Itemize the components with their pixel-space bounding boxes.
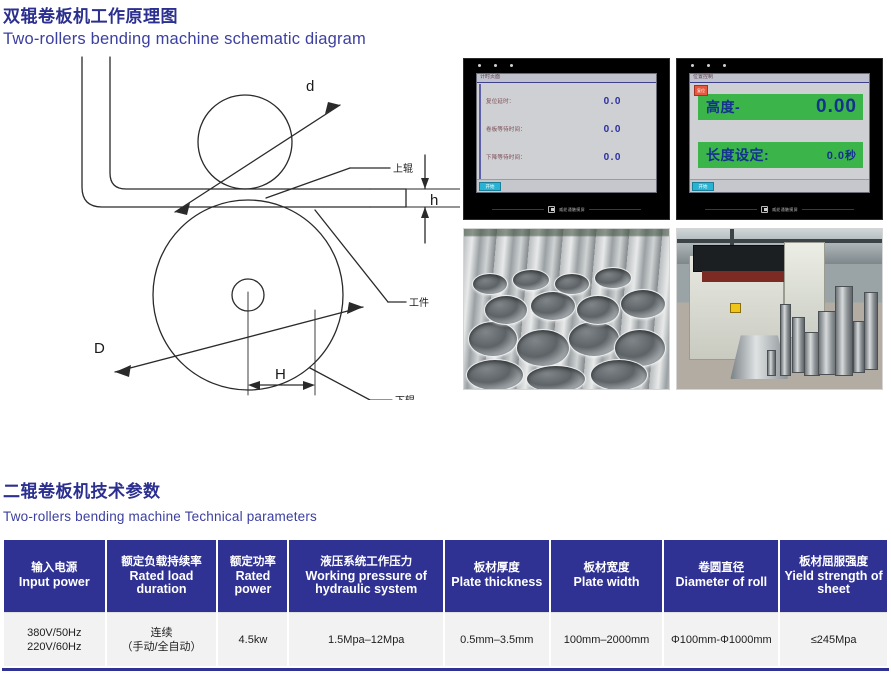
rolled-cylinders-photo (463, 228, 670, 390)
header-cn: 液压系统工作压力 (291, 556, 440, 569)
header-cn: 板材宽度 (553, 562, 661, 575)
hmi-taskbar: 开始 (477, 179, 656, 192)
header-en: Diameter of roll (666, 576, 776, 590)
header-cn: 卷圆直径 (666, 562, 776, 575)
warning-label-icon (730, 303, 741, 313)
hmi-start-button[interactable]: 开始 (479, 182, 501, 191)
table-header-cell-rated-power: 额定功率 Rated power (218, 540, 287, 612)
hmi-body: 复位延时： 0.0 卷板等待时间： 0.0 下降等待时间： 0.0 (477, 84, 656, 179)
led-indicator (494, 64, 497, 67)
hmi-screen[interactable]: 计时页面 复位延时： 0.0 卷板等待时间： 0.0 下降等 (476, 73, 657, 193)
tube-sample (835, 286, 853, 376)
table-cell-diameter-of-roll: Φ100mm-Φ1000mm (664, 612, 778, 666)
header-en: Yield strength of sheet (782, 570, 885, 597)
cell-line: 4.5kw (220, 633, 285, 647)
parameters-title-en: Two-rollers bending machine Technical pa… (3, 507, 317, 527)
hmi-brand-logo: 威纶通触摸屏 (677, 206, 882, 213)
page-title-en: Two-rollers bending machine schematic di… (3, 28, 366, 50)
hmi-left-accent-bar (479, 84, 481, 179)
schematic-label-d: d (306, 78, 314, 95)
cylinder (466, 359, 524, 390)
hmi-window-title: 计时页面 (480, 73, 500, 80)
tube-sample (780, 304, 791, 376)
cylinder (576, 295, 620, 325)
hmi-param-label: 复位延时： (486, 97, 515, 105)
cell-line: （手动/全自动） (109, 640, 215, 654)
hmi-panel-timers: 计时页面 复位延时： 0.0 卷板等待时间： 0.0 下降等 (463, 58, 670, 220)
hmi-param-label: 下降等待时间： (486, 153, 526, 161)
hmi-param-value: 0.0 (604, 152, 622, 163)
table-header-cell-working-pressure: 液压系统工作压力 Working pressure of hydraulic s… (289, 540, 442, 612)
hmi-start-button[interactable]: 开始 (692, 182, 714, 191)
hmi-window-title: 位置控制 (693, 73, 713, 80)
hmi-length-label: 长度设定: (706, 145, 769, 165)
cylinder (594, 267, 632, 289)
cylinder (468, 321, 518, 357)
schematic-label-workpiece: 工件 (409, 297, 429, 309)
hmi-body: 复位 高度- 0.00 长度设定: 0.0秒 (690, 84, 869, 179)
cylinder (568, 321, 620, 357)
cylinder (620, 289, 666, 319)
hmi-length-field[interactable]: 长度设定: 0.0秒 (698, 142, 863, 168)
cell-line: Φ100mm-Φ1000mm (666, 633, 776, 647)
cylinder (590, 359, 648, 390)
tube-sample (864, 292, 878, 370)
photo-frame (676, 228, 883, 390)
hmi-taskbar: 开始 (690, 179, 869, 192)
hmi-panel-position: 位置控制 复位 高度- 0.00 长度设定: 0.0秒 (676, 58, 883, 220)
schematic-label-lower-roll: 下辊 (395, 394, 415, 400)
machine-roller-head (693, 245, 787, 272)
table-cell-yield-strength: ≤245Mpa (780, 612, 887, 666)
header-cn: 额定功率 (220, 556, 285, 569)
cell-line: 100mm–2000mm (553, 633, 661, 647)
photo-frame (463, 228, 670, 390)
cylinder (526, 365, 586, 390)
brand-line (589, 209, 641, 210)
brand-line (705, 209, 757, 210)
hmi-bezel: 位置控制 复位 高度- 0.00 长度设定: 0.0秒 (676, 58, 883, 220)
table-cell-working-pressure: 1.5Mpa–12Mpa (289, 612, 442, 666)
cylinder (512, 269, 550, 291)
cylinder (530, 291, 576, 321)
technical-parameters-table: 输入电源 Input power 额定负载持续率 Rated load dura… (2, 540, 889, 666)
header-cn: 输入电源 (6, 562, 103, 575)
schematic-label-h: h (430, 192, 438, 209)
header-cn: 额定负载持续率 (109, 556, 215, 569)
table-cell-plate-width: 100mm–2000mm (551, 612, 663, 666)
table-header-row: 输入电源 Input power 额定负载持续率 Rated load dura… (4, 540, 887, 612)
tube-sample (767, 350, 776, 376)
tube-sample (792, 317, 805, 373)
led-indicator (707, 64, 710, 67)
hmi-param-value: 0.0 (604, 96, 622, 107)
table-row: 380V/50Hz 220V/60Hz 连续 （手动/全自动） 4.5kw 1.… (4, 612, 887, 666)
hmi-param-label: 卷板等待时间： (486, 125, 526, 133)
table-bottom-rule (2, 668, 889, 671)
header-cn: 板材屈服强度 (782, 556, 885, 569)
schematic-label-H: H (275, 366, 286, 383)
schematic-diagram: d h D H 上辊 下辊 工件 (70, 55, 460, 400)
brand-line (492, 209, 544, 210)
cell-line: 0.5mm–3.5mm (447, 633, 547, 647)
table-header-cell-input-power: 输入电源 Input power (4, 540, 105, 612)
hmi-param-row[interactable]: 卷板等待时间： 0.0 (486, 122, 648, 136)
product-spec-page: 双辊卷板机工作原理图 Two-rollers bending machine s… (0, 0, 891, 685)
hmi-height-value: 0.00 (816, 96, 857, 118)
schematic-svg: d h D H 上辊 下辊 工件 (70, 55, 460, 400)
table-cell-rated-load-duration: 连续 （手动/全自动） (107, 612, 217, 666)
led-indicator (691, 64, 694, 67)
brand-text: 威纶通触摸屏 (772, 207, 798, 213)
brand-mark-icon (761, 206, 768, 213)
header-en: Plate thickness (447, 576, 547, 590)
hmi-indicator-leds (478, 64, 513, 67)
schematic-label-D: D (94, 340, 105, 357)
brand-mark-icon (548, 206, 555, 213)
hmi-reset-badge[interactable]: 复位 (694, 85, 708, 96)
page-title-cn: 双辊卷板机工作原理图 (3, 6, 366, 28)
header-en: Working pressure of hydraulic system (291, 570, 440, 597)
table-header-cell-rated-load-duration: 额定负载持续率 Rated load duration (107, 540, 217, 612)
led-indicator (478, 64, 481, 67)
hmi-height-field[interactable]: 高度- 0.00 (698, 94, 863, 120)
table-cell-rated-power: 4.5kw (218, 612, 287, 666)
table-cell-input-power: 380V/50Hz 220V/60Hz (4, 612, 105, 666)
hmi-param-row[interactable]: 复位延时： 0.0 (486, 94, 648, 108)
hmi-indicator-leds (691, 64, 726, 67)
schematic-label-upper-roll: 上辊 (393, 162, 413, 175)
hmi-bezel: 计时页面 复位延时： 0.0 卷板等待时间： 0.0 下降等 (463, 58, 670, 220)
cell-line: 连续 (109, 626, 215, 640)
cell-line: 1.5Mpa–12Mpa (291, 633, 440, 647)
header-en: Input power (6, 576, 103, 590)
header-en: Rated power (220, 570, 285, 597)
roof-beam (677, 239, 882, 243)
hmi-window-titlebar: 计时页面 (477, 74, 656, 83)
brand-text: 威纶通触摸屏 (559, 207, 585, 213)
bending-machine-and-samples-photo (676, 228, 883, 390)
hmi-length-value: 0.0秒 (827, 147, 857, 163)
brand-line (802, 209, 854, 210)
hmi-height-label: 高度- (706, 97, 740, 117)
hmi-screen[interactable]: 位置控制 复位 高度- 0.00 长度设定: 0.0秒 (689, 73, 870, 193)
header-en: Plate width (553, 576, 661, 590)
header-cn: 板材厚度 (447, 562, 547, 575)
parameters-title-cn: 二辊卷板机技术参数 (3, 481, 317, 503)
table-header-cell-diameter-of-roll: 卷圆直径 Diameter of roll (664, 540, 778, 612)
table-header-cell-plate-width: 板材宽度 Plate width (551, 540, 663, 612)
media-grid: 计时页面 复位延时： 0.0 卷板等待时间： 0.0 下降等 (463, 58, 888, 394)
hmi-window-titlebar: 位置控制 (690, 74, 869, 83)
cell-line: 380V/50Hz (6, 626, 103, 640)
hmi-param-value: 0.0 (604, 124, 622, 135)
hmi-param-row[interactable]: 下降等待时间： 0.0 (486, 150, 648, 164)
table-cell-plate-thickness: 0.5mm–3.5mm (445, 612, 549, 666)
cylinder (516, 329, 570, 367)
cell-line: 220V/60Hz (6, 640, 103, 654)
cell-line: ≤245Mpa (782, 633, 885, 647)
led-indicator (510, 64, 513, 67)
header-en: Rated load duration (109, 570, 215, 597)
table-header-cell-plate-thickness: 板材厚度 Plate thickness (445, 540, 549, 612)
cylinder (484, 295, 528, 325)
page-title: 双辊卷板机工作原理图 Two-rollers bending machine s… (3, 6, 366, 50)
hmi-brand-logo: 威纶通触摸屏 (464, 206, 669, 213)
led-indicator (723, 64, 726, 67)
cylinder (554, 273, 590, 295)
cylinder (472, 273, 508, 295)
machine-red-panel (702, 271, 784, 282)
parameters-title: 二辊卷板机技术参数 Two-rollers bending machine Te… (3, 481, 317, 527)
table-header-cell-yield-strength: 板材屈服强度 Yield strength of sheet (780, 540, 887, 612)
